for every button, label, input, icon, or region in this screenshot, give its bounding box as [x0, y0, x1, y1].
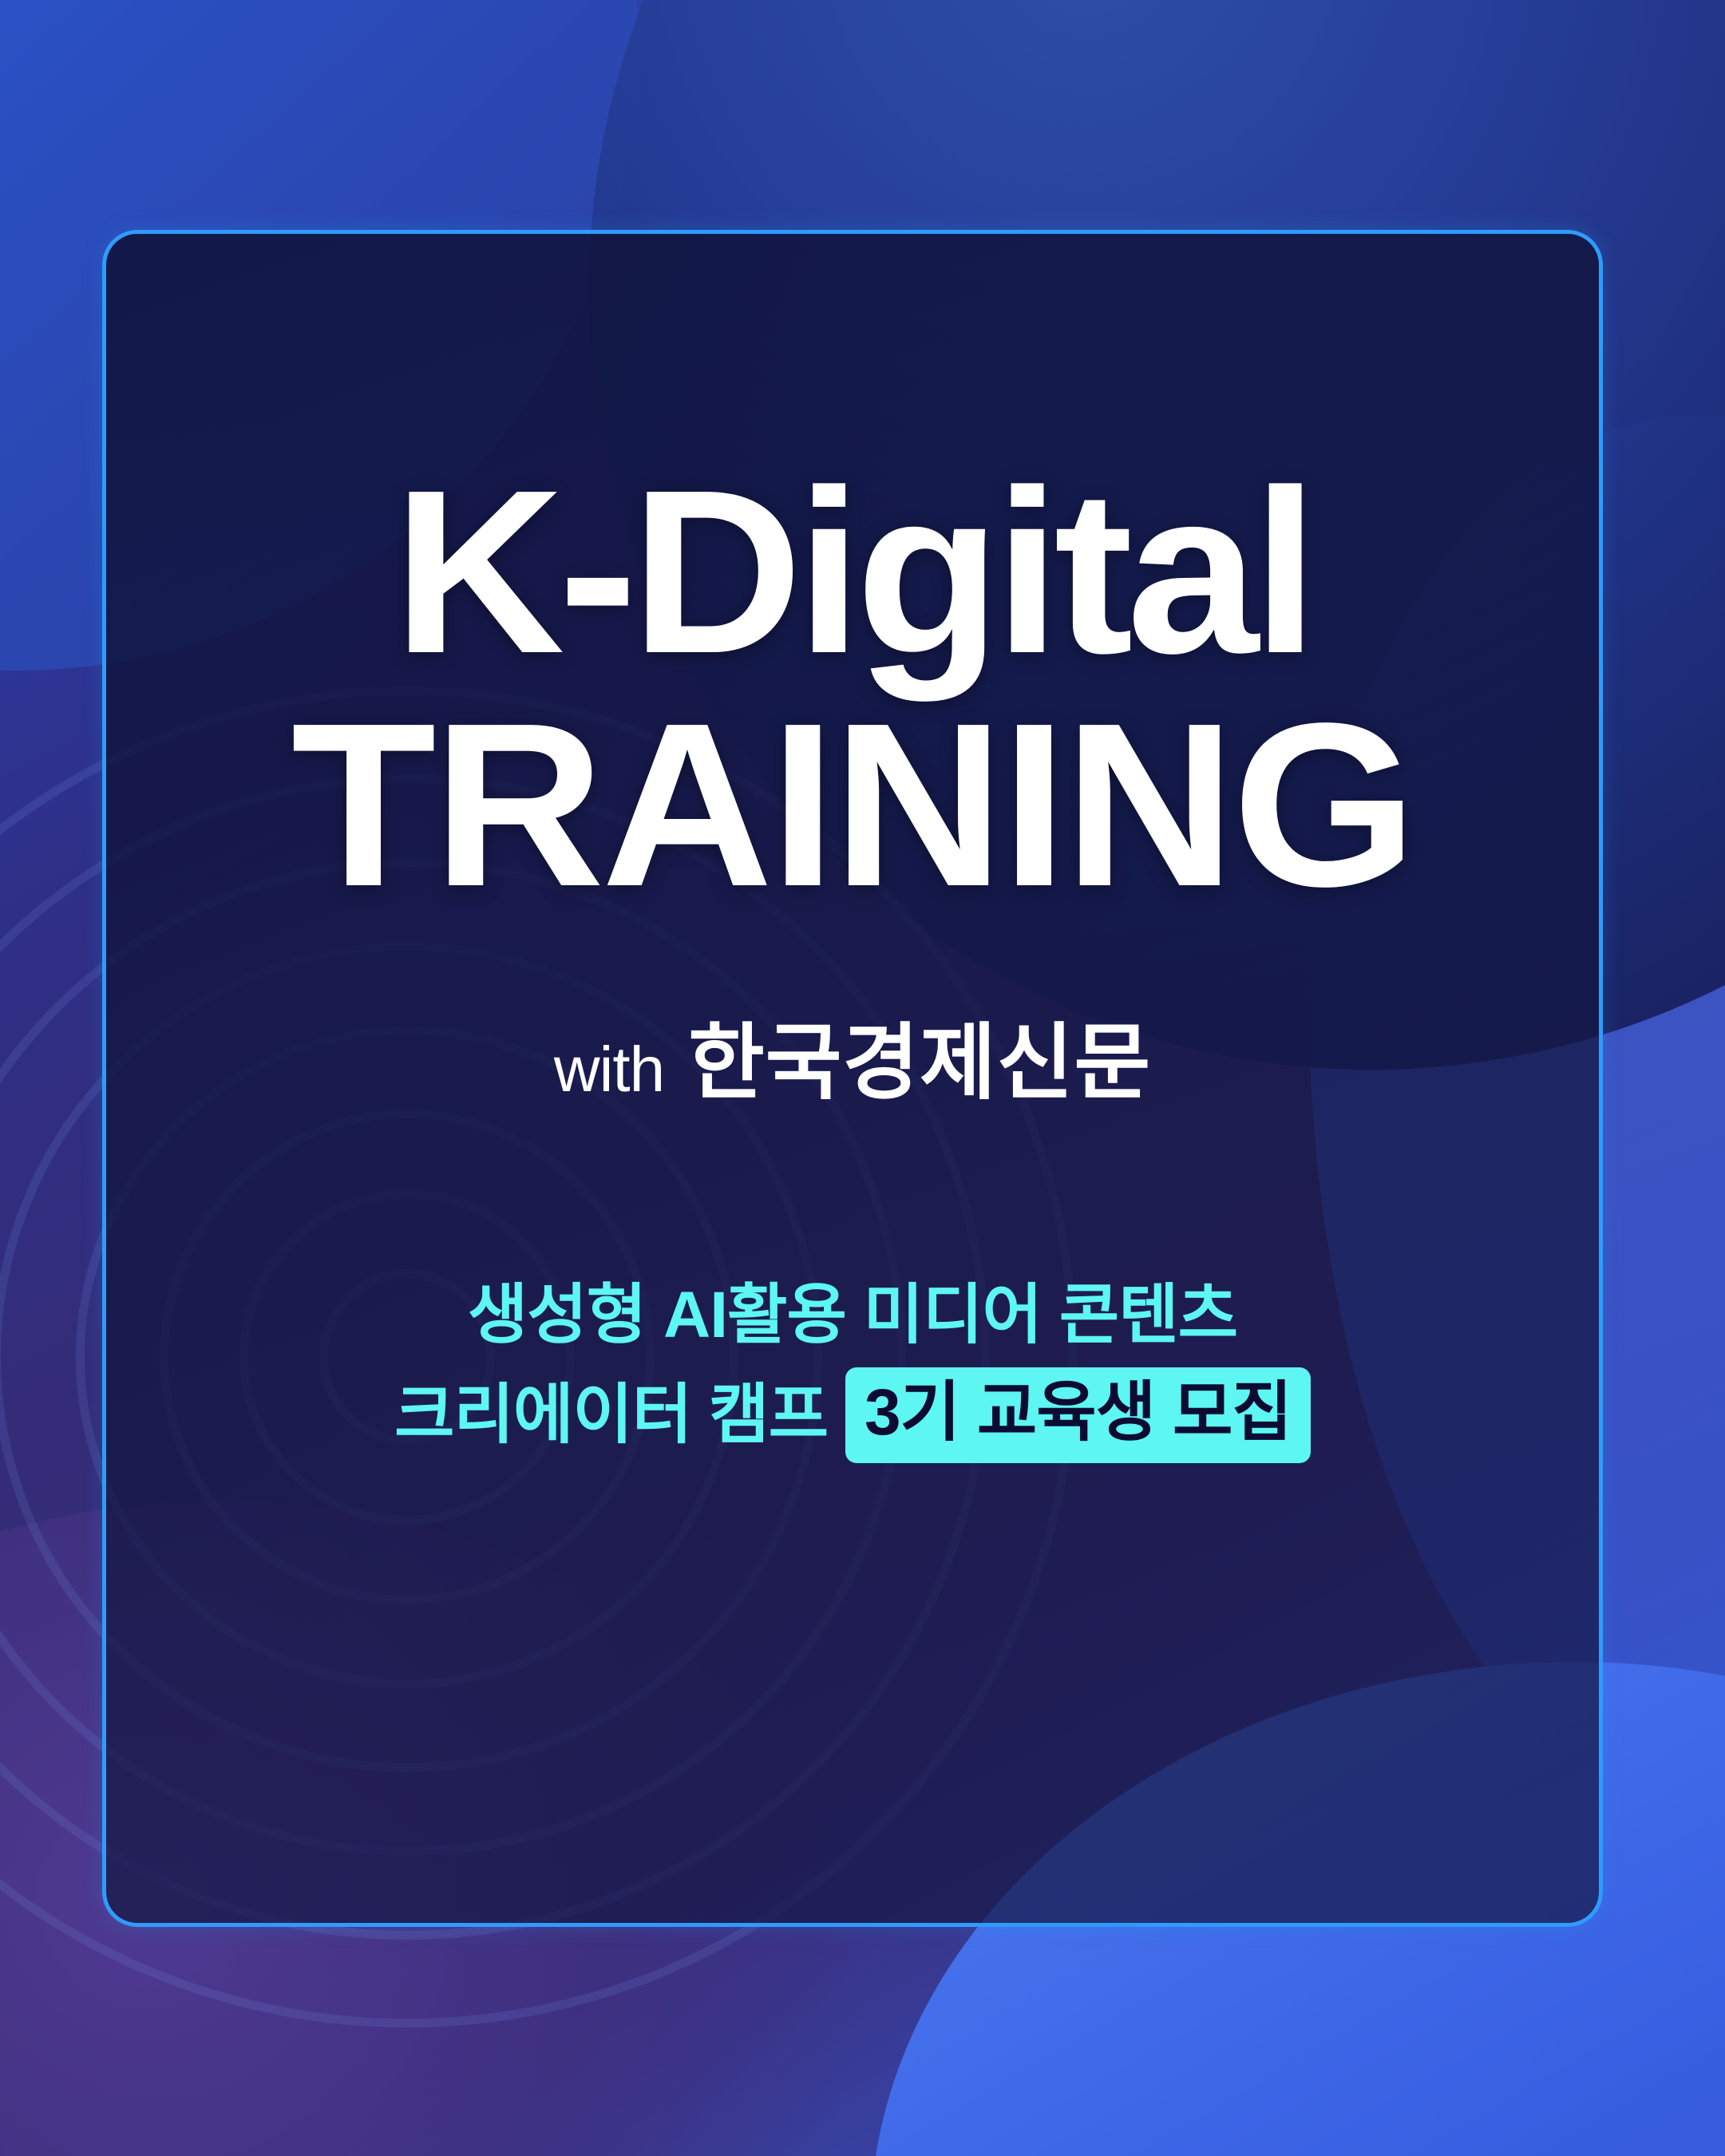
promotional-poster: K-Digital TRAINING with 한국경제신문 생성형 AI활용 …: [0, 0, 1725, 2156]
program-description: 생성형 AI활용 미디어 콘텐츠 크리에이터 캠프 3기 교육생 모집: [394, 1272, 1311, 1463]
content-frame: K-Digital TRAINING with 한국경제신문 생성형 AI활용 …: [102, 230, 1603, 1927]
program-line-2-prefix: 크리에이터 캠프: [394, 1371, 828, 1459]
headline-line-2: TRAINING: [102, 695, 1603, 914]
partner-organization: 한국경제신문: [688, 995, 1151, 1115]
recruitment-badge: 3기 교육생 모집: [845, 1367, 1311, 1463]
headline-line-1: K-Digital: [102, 462, 1603, 681]
partner-prefix: with: [554, 1033, 664, 1106]
program-line-1: 생성형 AI활용 미디어 콘텐츠: [394, 1272, 1311, 1359]
partner-line: with 한국경제신문: [554, 995, 1151, 1115]
program-line-2: 크리에이터 캠프 3기 교육생 모집: [394, 1367, 1311, 1463]
